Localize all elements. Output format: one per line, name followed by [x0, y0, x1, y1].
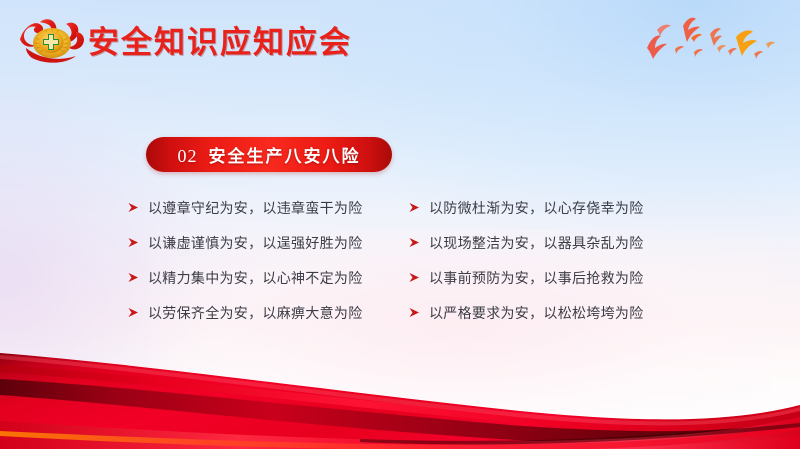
- list-item-label: 以防微杜渐为安，以心存侥幸为险: [429, 198, 644, 218]
- section-number: 02: [178, 146, 198, 167]
- badge-content: 02 安全生产八安八险: [178, 142, 361, 167]
- red-arrow-bullet-icon: [128, 272, 139, 283]
- slide-header: 安全知识应知应会: [0, 0, 800, 90]
- list-item: 以严格要求为安，以松松垮垮为险: [409, 303, 690, 323]
- list-item: 以劳保齐全为安，以麻痹大意为险: [128, 303, 409, 323]
- red-arrow-bullet-icon: [409, 237, 420, 248]
- section-title: 安全生产八安八险: [209, 142, 361, 167]
- safety-production-emblem-icon: [18, 14, 90, 72]
- list-item-label: 以劳保齐全为安，以麻痹大意为险: [148, 303, 363, 323]
- list-item-label: 以严格要求为安，以松松垮垮为险: [429, 303, 644, 323]
- list-item: 以事前预防为安，以事后抢救为险: [409, 268, 690, 288]
- page-title: 安全知识应知应会: [88, 17, 352, 62]
- list-item-label: 以事前预防为安，以事后抢救为险: [429, 268, 644, 288]
- red-arrow-bullet-icon: [409, 307, 420, 318]
- red-arrow-bullet-icon: [409, 202, 420, 213]
- red-arrow-bullet-icon: [128, 307, 139, 318]
- section-title-badge: 02 安全生产八安八险: [146, 137, 392, 172]
- list-item-label: 以遵章守纪为安，以违章蛮干为险: [148, 198, 363, 218]
- list-item: 以精力集中为安，以心神不定为险: [128, 268, 409, 288]
- slide-canvas: 安全知识应知应会: [0, 0, 800, 449]
- red-arrow-bullet-icon: [409, 272, 420, 283]
- red-wave-ribbon-icon: [0, 339, 800, 449]
- list-item-label: 以精力集中为安，以心神不定为险: [148, 268, 363, 288]
- safety-phrase-list: 以遵章守纪为安，以违章蛮干为险 以防微杜渐为安，以心存侥幸为险 以谦虚谨慎为安，…: [128, 190, 690, 340]
- red-arrow-bullet-icon: [128, 237, 139, 248]
- red-arrow-bullet-icon: [128, 202, 139, 213]
- flying-birds-icon: [631, 12, 786, 74]
- list-item: 以谦虚谨慎为安，以逞强好胜为险: [128, 233, 409, 253]
- list-item-label: 以谦虚谨慎为安，以逞强好胜为险: [148, 233, 363, 253]
- list-item: 以防微杜渐为安，以心存侥幸为险: [409, 198, 690, 218]
- list-item-label: 以现场整洁为安，以器具杂乱为险: [429, 233, 644, 253]
- list-item: 以现场整洁为安，以器具杂乱为险: [409, 233, 690, 253]
- list-item: 以遵章守纪为安，以违章蛮干为险: [128, 198, 409, 218]
